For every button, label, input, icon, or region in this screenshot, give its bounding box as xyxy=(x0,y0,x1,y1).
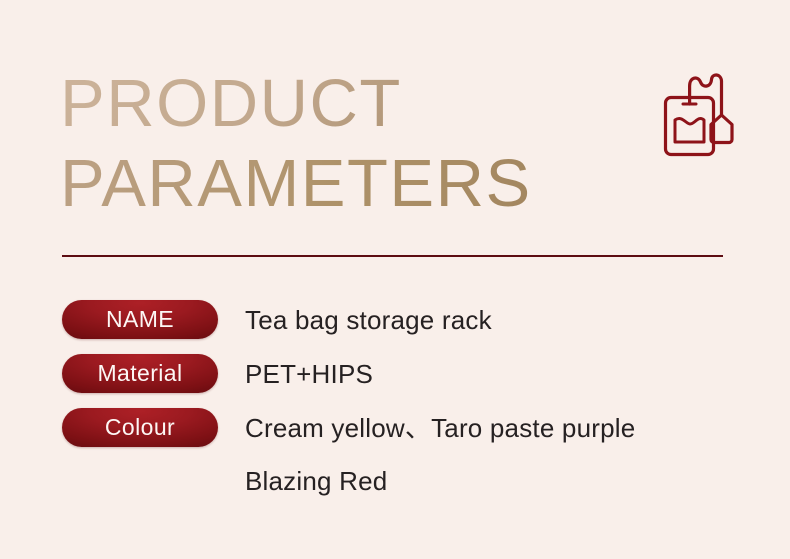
spec-row-colour: Colour Cream yellow、Taro paste purple Bl… xyxy=(62,408,772,462)
tea-bag-string xyxy=(690,75,722,115)
spec-badge-material: Material xyxy=(62,354,218,393)
product-parameters-card: PRODUCT PARAMETERS NAME Tea bag storage … xyxy=(0,0,790,559)
spec-badge-colour: Colour xyxy=(62,408,218,447)
header-divider xyxy=(62,255,723,257)
page-title-line-1: PRODUCT xyxy=(60,64,680,144)
spec-value-name: Tea bag storage rack xyxy=(245,300,492,339)
spec-badge-name: NAME xyxy=(62,300,218,339)
tea-bag-body-shape xyxy=(666,98,714,155)
spec-row-name: NAME Tea bag storage rack xyxy=(62,300,772,354)
spec-value-colour: Cream yellow、Taro paste purple xyxy=(245,408,635,447)
spec-value-colour-line-2: Blazing Red xyxy=(245,462,387,501)
page-title: PRODUCT PARAMETERS xyxy=(60,64,680,224)
tea-bag-icon xyxy=(660,66,752,162)
page-title-line-2: PARAMETERS xyxy=(60,144,680,224)
spec-badge-label: Colour xyxy=(105,416,175,439)
spec-value-material: PET+HIPS xyxy=(245,354,373,393)
tea-bag-fill-shape xyxy=(675,118,704,142)
spec-badge-label: NAME xyxy=(106,308,174,331)
spec-list: NAME Tea bag storage rack Material PET+H… xyxy=(62,300,772,462)
spec-row-material: Material PET+HIPS xyxy=(62,354,772,408)
spec-badge-label: Material xyxy=(97,362,182,385)
tea-bag-icon-svg xyxy=(660,66,752,162)
